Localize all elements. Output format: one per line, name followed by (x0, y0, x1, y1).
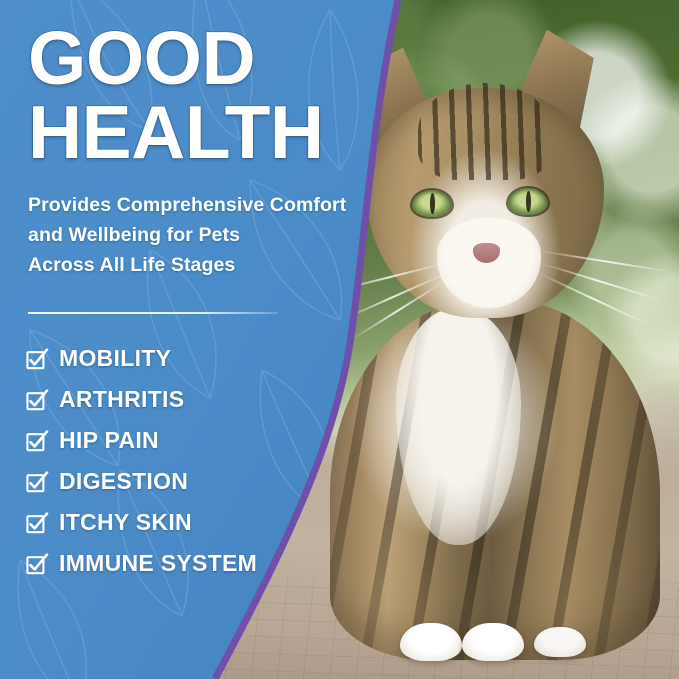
checkbox-checked-icon (26, 430, 48, 452)
headline-line-2: HEALTH (28, 96, 324, 170)
checkbox-checked-icon (26, 553, 48, 575)
subheadline-line-1: Provides Comprehensive Comfort (28, 190, 368, 220)
list-item: MOBILITY (26, 338, 257, 379)
list-item: HIP PAIN (26, 420, 257, 461)
subheadline-line-3: Across All Life Stages (28, 250, 368, 280)
list-item: DIGESTION (26, 461, 257, 502)
checkbox-checked-icon (26, 512, 48, 534)
panel-content: GOOD HEALTH Provides Comprehensive Comfo… (0, 0, 360, 679)
benefit-label: IMMUNE SYSTEM (59, 550, 257, 577)
benefit-label: HIP PAIN (59, 427, 159, 454)
subheadline-line-2: and Wellbeing for Pets (28, 220, 368, 250)
benefits-list: MOBILITY ARTHRITIS HIP P (26, 338, 257, 584)
list-item: ARTHRITIS (26, 379, 257, 420)
benefit-label: DIGESTION (59, 468, 188, 495)
benefit-label: ARTHRITIS (59, 386, 184, 413)
checkbox-checked-icon (26, 389, 48, 411)
list-item: IMMUNE SYSTEM (26, 543, 257, 584)
benefit-label: ITCHY SKIN (59, 509, 192, 536)
divider-rule (28, 312, 278, 314)
checkbox-checked-icon (26, 471, 48, 493)
list-item: ITCHY SKIN (26, 502, 257, 543)
benefit-label: MOBILITY (59, 345, 171, 372)
subheadline: Provides Comprehensive Comfort and Wellb… (28, 190, 368, 281)
checkbox-checked-icon (26, 348, 48, 370)
headline-line-1: GOOD (28, 22, 255, 96)
good-health-banner: GOOD HEALTH Provides Comprehensive Comfo… (0, 0, 679, 679)
